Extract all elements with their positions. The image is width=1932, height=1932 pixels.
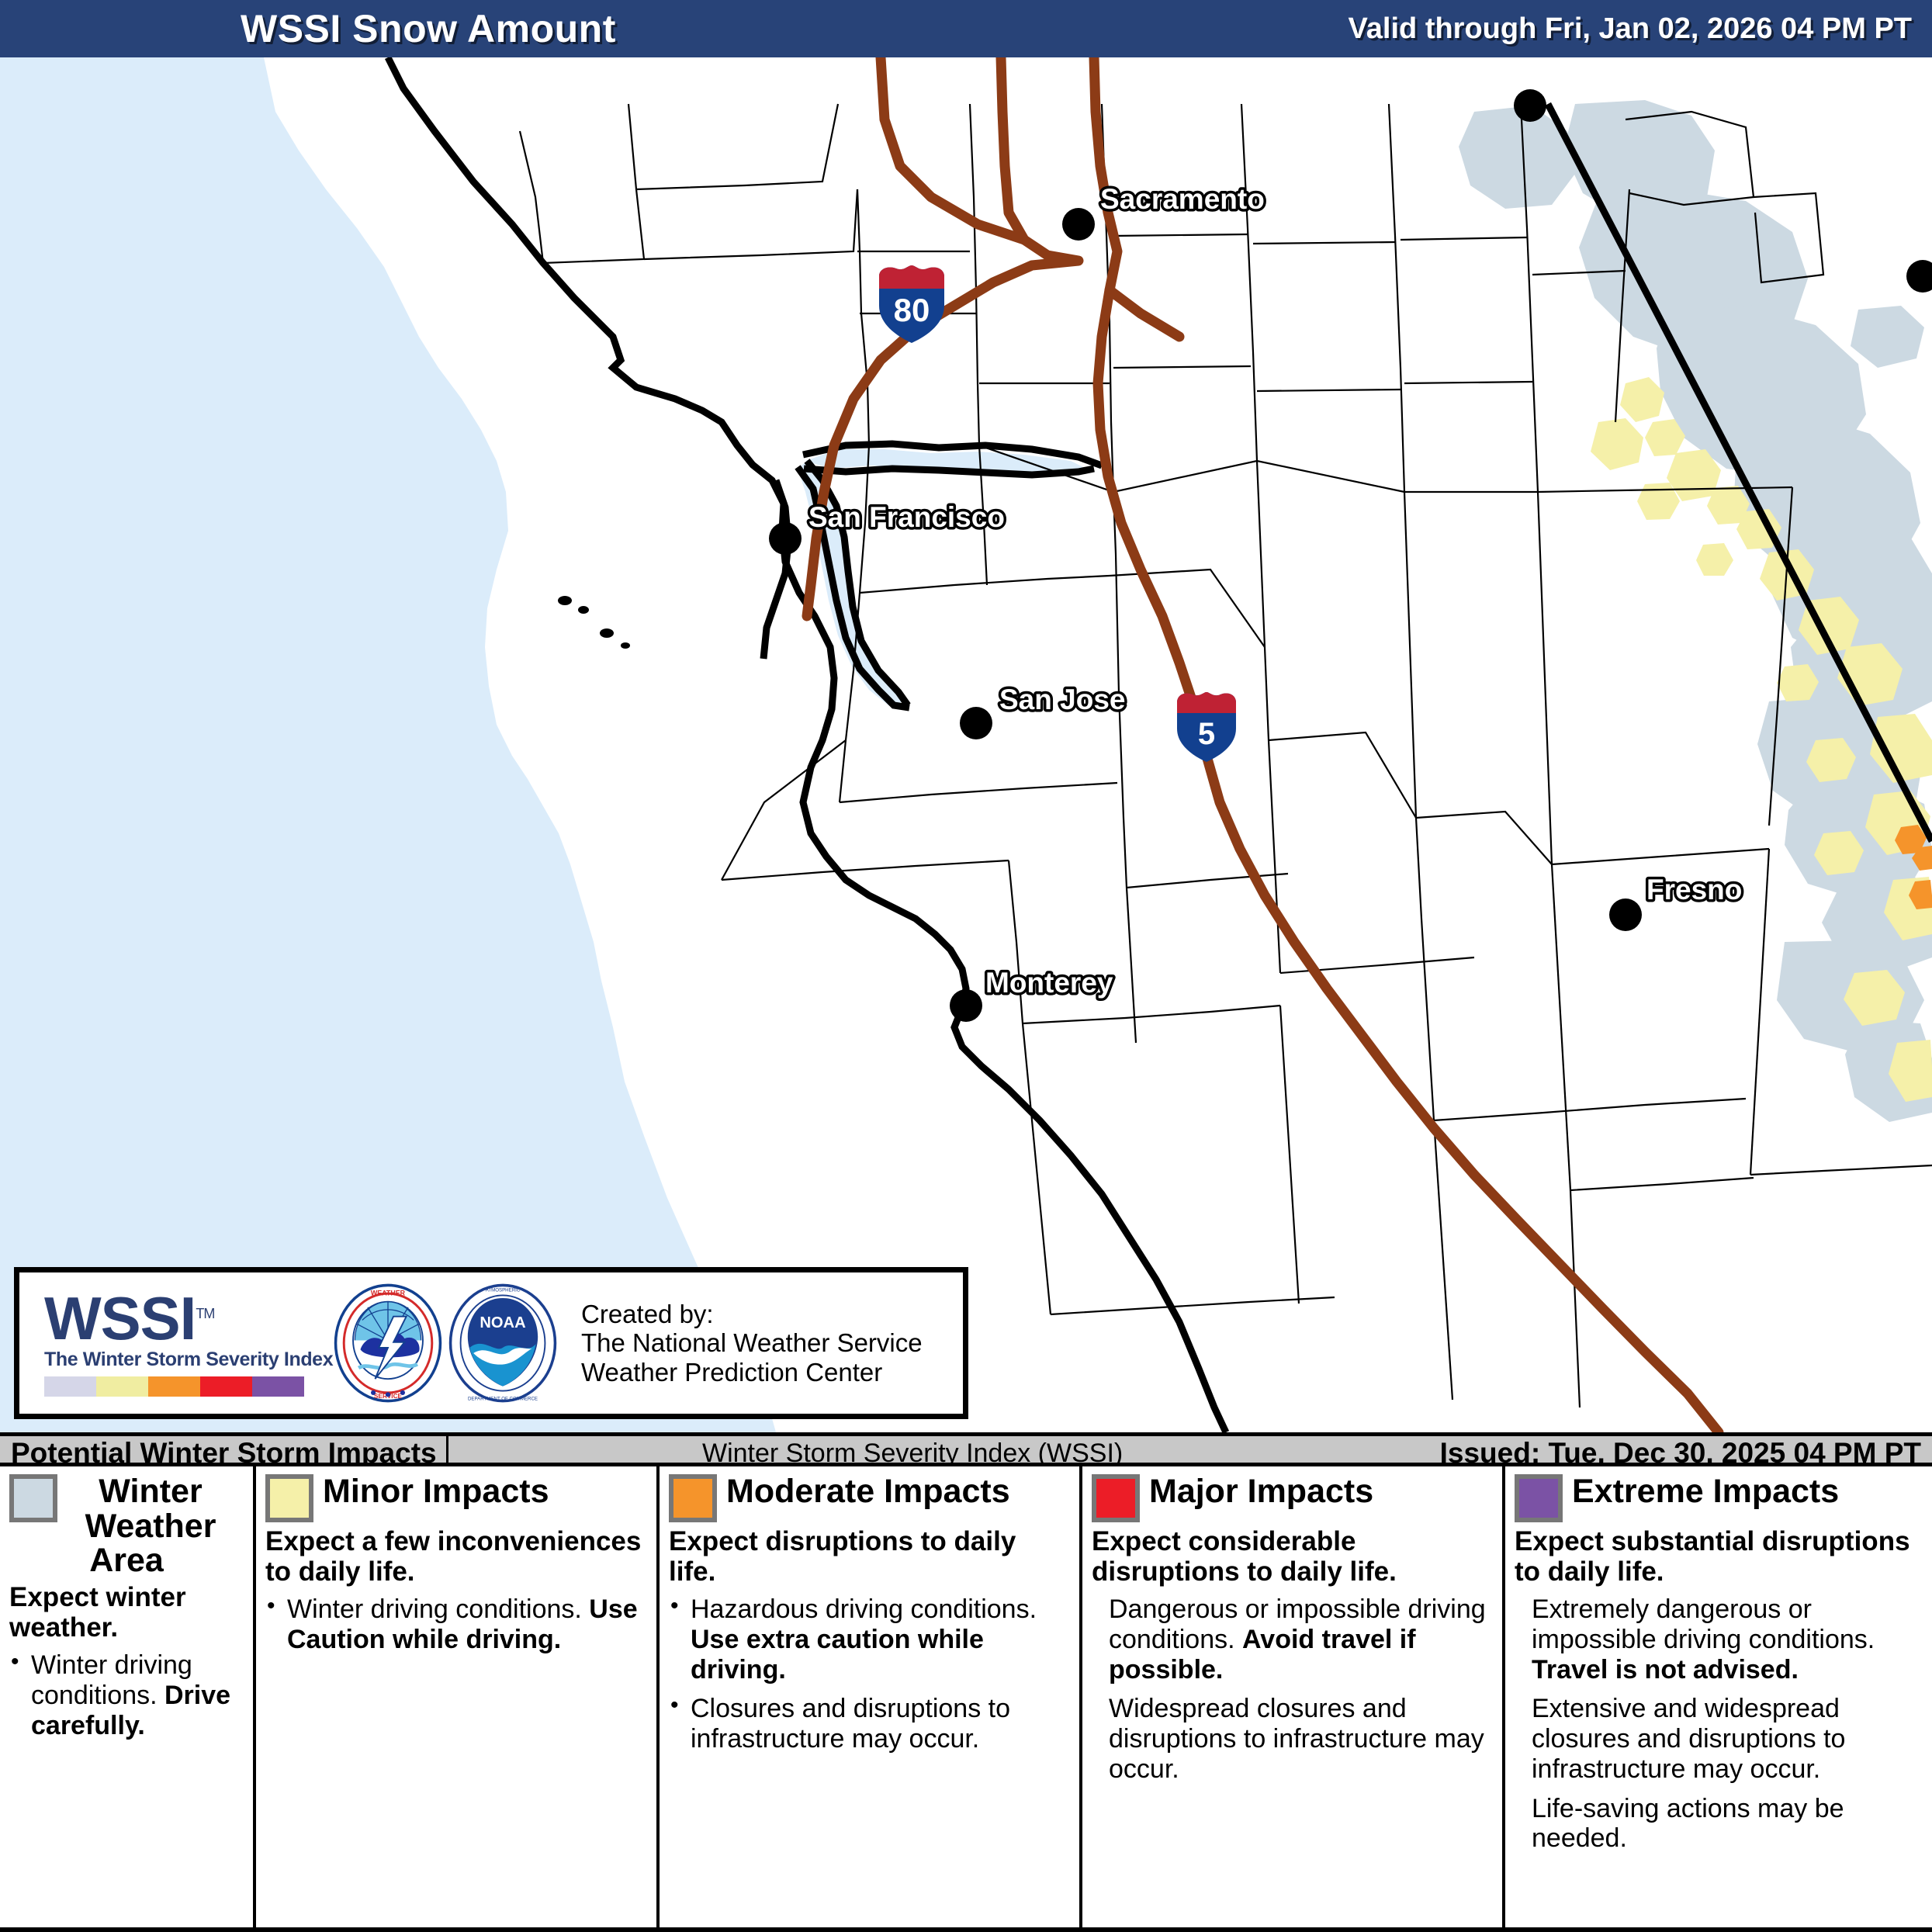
legend-header: Minor Impacts xyxy=(265,1474,647,1522)
legend-paragraph-item: Extensive and widespread closures and di… xyxy=(1515,1694,1923,1784)
wssi-wordmark: WSSITM xyxy=(44,1290,322,1347)
scale-swatch-extreme xyxy=(252,1376,304,1397)
legend-bullet-item: Winter driving conditions. Drive careful… xyxy=(9,1650,244,1740)
legend-paragraph-item: Widespread closures and disruptions to i… xyxy=(1092,1694,1493,1784)
scale-swatch-major xyxy=(200,1376,252,1397)
legend-header: Extreme Impacts xyxy=(1515,1474,1923,1522)
map-svg: 80 5 Sacramento San Francisco San Jose xyxy=(0,57,1932,1432)
legend-label-moderate-impacts: Moderate Impacts xyxy=(726,1474,1010,1509)
svg-text:ATMOSPHERIC: ATMOSPHERIC xyxy=(486,1288,521,1293)
creator-credit: Created by: The National Weather Service… xyxy=(569,1300,923,1387)
legend-bullet-item: Hazardous driving conditions. Use extra … xyxy=(669,1594,1070,1684)
legend-label-extreme-impacts: Extreme Impacts xyxy=(1572,1474,1839,1509)
paragraph-text: Life-saving actions may be needed. xyxy=(1532,1794,1844,1854)
legend-column-moderate-impacts: Moderate Impacts Expect disruptions to d… xyxy=(660,1466,1082,1927)
city-dot-san-jose xyxy=(960,707,992,739)
scale-swatch-moderate xyxy=(148,1376,200,1397)
legend-bullet-item: Closures and disruptions to infrastructu… xyxy=(669,1694,1070,1754)
wssi-tagline: The Winter Storm Severity Index xyxy=(44,1349,322,1371)
wssi-logo-box: WSSITM The Winter Storm Severity Index xyxy=(14,1267,968,1419)
legend-paragraph-item: Life-saving actions may be needed. xyxy=(1515,1794,1923,1854)
national-weather-service-seal: WEATHER SERVICE xyxy=(333,1283,443,1404)
city-label-sacramento: Sacramento xyxy=(1100,183,1265,215)
legend-swatch-minor-impacts xyxy=(265,1474,313,1522)
city-dot-sacramento xyxy=(1062,208,1095,241)
legend-swatch-winter-weather-area xyxy=(9,1474,57,1522)
city-label-san-jose: San Jose xyxy=(999,684,1125,715)
wssi-logo: WSSITM The Winter Storm Severity Index xyxy=(19,1290,322,1397)
svg-text:DEPARTMENT OF COMMERCE: DEPARTMENT OF COMMERCE xyxy=(468,1396,538,1401)
legend-intro: Expect considerable disruptions to daily… xyxy=(1092,1527,1493,1587)
legend-column-extreme-impacts: Extreme Impacts Expect substantial disru… xyxy=(1505,1466,1932,1927)
wssi-snow-amount-map-page: WSSI Snow Amount Valid through Fri, Jan … xyxy=(0,0,1932,1932)
legend-header: Winter Weather Area xyxy=(9,1474,244,1578)
city-label-fresno: Fresno xyxy=(1646,874,1742,905)
city-dot-reno xyxy=(1514,89,1546,122)
credit-line-3: Weather Prediction Center xyxy=(581,1358,923,1387)
bullet-text: Winter driving conditions. xyxy=(287,1594,589,1624)
page-header: WSSI Snow Amount Valid through Fri, Jan … xyxy=(0,0,1932,57)
legend-paragraph-item: Dangerous or impossible driving conditio… xyxy=(1092,1594,1493,1684)
legend-intro: Expect disruptions to daily life. xyxy=(669,1527,1070,1587)
banner-divider-1 xyxy=(446,1436,448,1463)
legend-bullet-list: Hazardous driving conditions. Use extra … xyxy=(669,1594,1070,1754)
legend-intro: Expect a few inconveniences to daily lif… xyxy=(265,1527,647,1587)
city-dot-monterey xyxy=(950,989,982,1022)
legend-column-major-impacts: Major Impacts Expect considerable disrup… xyxy=(1082,1466,1505,1927)
banner-subtitle: Winter Storm Severity Index (WSSI) xyxy=(702,1439,1123,1469)
bullet-text: Hazardous driving conditions. xyxy=(691,1594,1037,1624)
legend-bullet-item: Winter driving conditions. Use Caution w… xyxy=(265,1594,647,1655)
legend-column-minor-impacts: Minor Impacts Expect a few inconvenience… xyxy=(256,1466,660,1927)
noaa-seal: NOAA ATMOSPHERIC DEPARTMENT OF COMMERCE xyxy=(448,1283,558,1404)
legend-label-minor-impacts: Minor Impacts xyxy=(323,1474,549,1509)
legend-swatch-moderate-impacts xyxy=(669,1474,717,1522)
legend-column-winter-weather-area: Winter Weather Area Expect winter weathe… xyxy=(0,1466,256,1927)
page-title: WSSI Snow Amount xyxy=(241,6,616,51)
agency-seals: WEATHER SERVICE NOAA ATMOSPHERIC xyxy=(322,1283,569,1404)
city-dot-fresno xyxy=(1609,898,1642,931)
legend-label-winter-weather-area: Winter Weather Area xyxy=(85,1473,216,1579)
legend-bullet-list: Winter driving conditions. Use Caution w… xyxy=(265,1594,647,1655)
legend-swatch-major-impacts xyxy=(1092,1474,1140,1522)
map-canvas[interactable]: 80 5 Sacramento San Francisco San Jose xyxy=(0,57,1932,1432)
bullet-emphasis: Use extra caution while driving. xyxy=(691,1625,984,1684)
legend-intro: Expect winter weather. xyxy=(9,1583,244,1643)
scale-swatch-minor xyxy=(96,1376,148,1397)
paragraph-text: Extensive and widespread closures and di… xyxy=(1532,1694,1845,1784)
svg-text:WEATHER: WEATHER xyxy=(371,1289,406,1297)
valid-through-text: Valid through Fri, Jan 02, 2026 04 PM PT xyxy=(1349,12,1912,46)
wssi-color-scale xyxy=(44,1376,304,1397)
paragraph-text: Widespread closures and disruptions to i… xyxy=(1109,1694,1484,1784)
legend-paragraph-list: Extremely dangerous or impossible drivin… xyxy=(1515,1594,1923,1854)
legend-bullet-list: Winter driving conditions. Drive careful… xyxy=(9,1650,244,1740)
legend-header: Major Impacts xyxy=(1092,1474,1493,1522)
banner-left-title: Potential Winter Storm Impacts xyxy=(11,1437,437,1470)
paragraph-emphasis: Travel is not advised. xyxy=(1532,1655,1799,1684)
city-dot-san-francisco xyxy=(769,522,802,555)
impact-legend: Winter Weather Area Expect winter weathe… xyxy=(0,1466,1932,1932)
issued-text: Issued: Tue, Dec 30, 2025 04 PM PT xyxy=(1440,1437,1921,1470)
credit-line-2: The National Weather Service xyxy=(581,1328,923,1358)
city-label-monterey: Monterey xyxy=(985,967,1113,999)
paragraph-text: Extremely dangerous or impossible drivin… xyxy=(1532,1594,1875,1654)
credit-line-1: Created by: xyxy=(581,1300,923,1329)
noaa-wordmark: NOAA xyxy=(480,1314,525,1331)
bullet-text: Closures and disruptions to infrastructu… xyxy=(691,1694,1010,1754)
legend-paragraph-list: Dangerous or impossible driving conditio… xyxy=(1092,1594,1493,1785)
shield-label-5: 5 xyxy=(1198,717,1215,751)
legend-label-major-impacts: Major Impacts xyxy=(1149,1474,1373,1509)
legend-swatch-extreme-impacts xyxy=(1515,1474,1563,1522)
legend-intro: Expect substantial disruptions to daily … xyxy=(1515,1527,1923,1587)
scale-swatch-winter-weather xyxy=(44,1376,96,1397)
impacts-banner: Potential Winter Storm Impacts Winter St… xyxy=(0,1432,1932,1466)
shield-label-80: 80 xyxy=(894,292,930,328)
legend-header: Moderate Impacts xyxy=(669,1474,1070,1522)
city-label-san-francisco: San Francisco xyxy=(808,501,1005,533)
legend-paragraph-item: Extremely dangerous or impossible drivin… xyxy=(1515,1594,1923,1684)
